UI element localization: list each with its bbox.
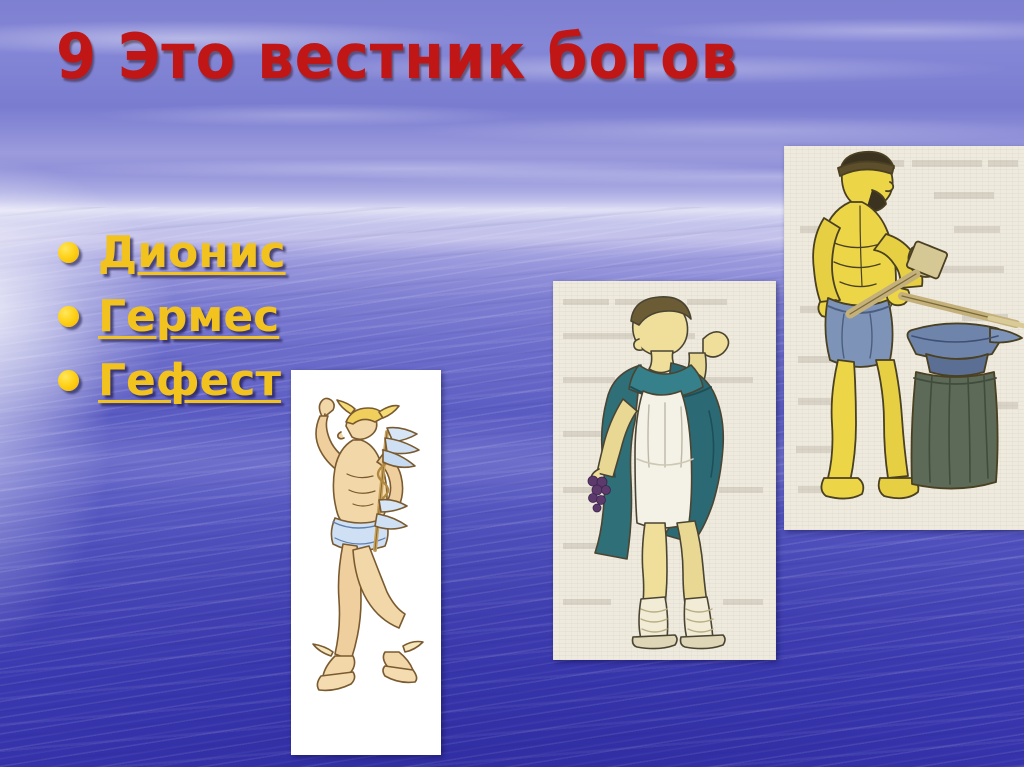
hermes-figure-icon xyxy=(291,370,441,755)
dionysus-figure-icon xyxy=(553,281,776,660)
slide-canvas: 9 Это вестник богов Дионис Гермес Гефест xyxy=(0,0,1024,767)
bullet-dot-icon xyxy=(58,242,79,263)
list-item[interactable]: Дионис xyxy=(58,222,286,282)
list-item[interactable]: Гермес xyxy=(58,286,286,346)
bullet-dot-icon xyxy=(58,306,79,327)
slide-title: 9 Это вестник богов xyxy=(56,20,738,93)
bullet-item-label[interactable]: Гефест xyxy=(98,355,281,406)
bullet-item-label[interactable]: Гермес xyxy=(98,291,279,342)
dionysus-illustration[interactable] xyxy=(553,281,776,660)
list-item[interactable]: Гефест xyxy=(58,350,286,410)
bullet-dot-icon xyxy=(58,370,79,391)
bullet-item-label[interactable]: Дионис xyxy=(98,227,286,278)
hermes-illustration[interactable] xyxy=(291,370,441,755)
hephaestus-illustration[interactable] xyxy=(784,146,1024,530)
hephaestus-figure-icon xyxy=(784,146,1024,530)
bullet-list: Дионис Гермес Гефест xyxy=(58,222,286,414)
